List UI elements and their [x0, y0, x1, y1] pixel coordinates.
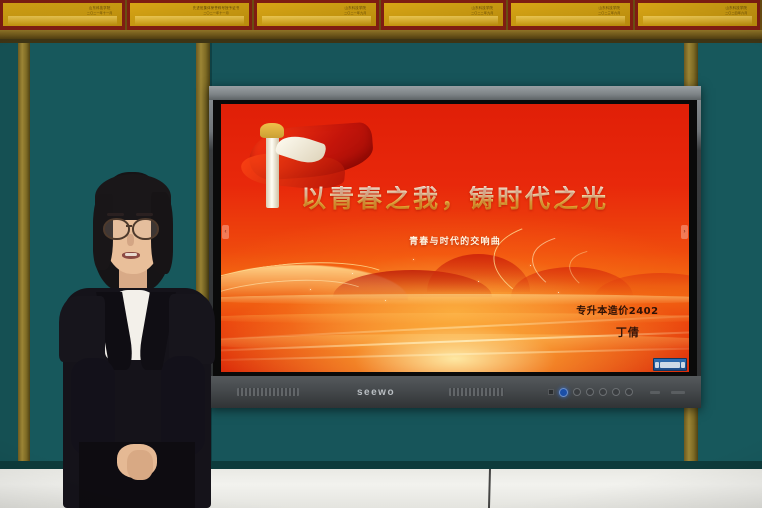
blazer-shoulder: [59, 296, 105, 362]
control-button[interactable]: [625, 388, 633, 396]
presentation-screen[interactable]: 以青春之我，铸时代之光 青春与时代的交响曲 专升本造价2402 丁倩 ‹ ›: [221, 104, 689, 372]
plaque-line2: 二〇二四年六月: [725, 11, 747, 15]
classroom-scene: 山东科技学院二〇二一年十一月 先进班集体荣誉称号授予证书二〇二一年十一月 山东科…: [0, 0, 762, 508]
ir-sensor-icon: [671, 391, 685, 394]
award-plaque: 山东科技学院二〇二一年十一月: [0, 0, 125, 30]
speaker-vent: [449, 388, 504, 396]
control-button[interactable]: [586, 388, 594, 396]
display-top-bezel: [209, 86, 701, 100]
nose: [127, 234, 134, 246]
award-plaque: 山东科技学院二〇二一年九月: [254, 0, 379, 30]
arm: [161, 356, 205, 456]
presenter: [57, 172, 217, 508]
glasses-icon: [103, 218, 130, 240]
clasped-hands: [127, 450, 153, 480]
ir-sensor-icon: [650, 391, 660, 394]
plaque-line2: 二〇二二年九月: [471, 11, 493, 15]
plaque-line2: 二〇二一年九月: [344, 11, 366, 15]
blazer-shoulder: [169, 294, 215, 364]
display-brand-logo: seewo: [357, 387, 395, 398]
seewo-interactive-display[interactable]: 以青春之我，铸时代之光 青春与时代的交响曲 专升本造价2402 丁倩 ‹ › s…: [209, 86, 701, 408]
award-plaque: 山东科技学院二〇二四年六月: [635, 0, 760, 30]
teeth: [125, 253, 137, 256]
taskbar-overlay[interactable]: [653, 358, 687, 371]
eyebrow: [136, 213, 153, 216]
slide-class-name: 专升本造价2402: [576, 302, 658, 317]
slide-subtitle: 青春与时代的交响曲: [221, 234, 689, 247]
control-button[interactable]: [599, 388, 607, 396]
taskbar-chip: [681, 362, 685, 368]
prev-slide-tab[interactable]: ‹: [222, 225, 229, 239]
torch-flame-icon: [260, 123, 284, 138]
display-control-buttons[interactable]: [548, 388, 685, 397]
award-plaque-strip: 山东科技学院二〇二一年十一月 先进班集体荣誉称号授予证书二〇二一年十一月 山东科…: [0, 0, 762, 30]
glasses-bridge: [126, 225, 132, 227]
taskbar-chip: [655, 362, 659, 368]
control-button[interactable]: [573, 388, 581, 396]
eyebrow: [107, 213, 124, 216]
display-inner-frame: 以青春之我，铸时代之光 青春与时代的交响曲 专升本造价2402 丁倩 ‹ ›: [213, 100, 697, 376]
plaque-line2: 二〇二一年十一月: [193, 11, 240, 15]
speaker-vent: [237, 388, 299, 396]
plaque-line2: 二〇二一年十一月: [87, 11, 113, 15]
power-button[interactable]: [559, 388, 568, 397]
slide-presenter-name: 丁倩: [616, 324, 640, 340]
taskbar-chip: [660, 362, 680, 368]
display-bottom-bezel: seewo: [209, 376, 701, 408]
control-button[interactable]: [612, 388, 620, 396]
menu-button[interactable]: [548, 389, 554, 395]
blackboard-frame-rail: [18, 43, 30, 461]
next-slide-tab[interactable]: ›: [681, 225, 688, 239]
glasses-icon: [132, 218, 159, 240]
award-plaque: 先进班集体荣誉称号授予证书二〇二一年十一月: [127, 0, 252, 30]
plaque-shelf: [0, 30, 762, 39]
award-plaque: 山东科技学院二〇二二年九月: [381, 0, 506, 30]
award-plaque: 山东科技学院二〇二三年六月: [508, 0, 633, 30]
slide-title: 以青春之我，铸时代之光: [221, 186, 689, 211]
plaque-line2: 二〇二三年六月: [598, 11, 620, 15]
